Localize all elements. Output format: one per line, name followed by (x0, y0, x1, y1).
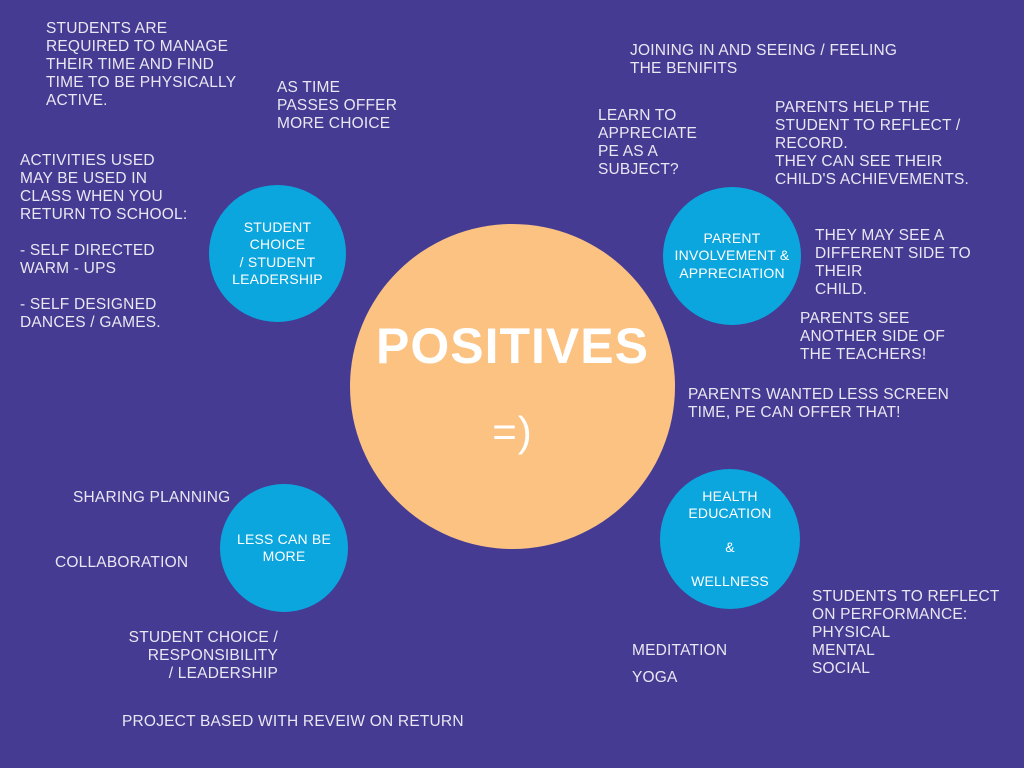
bubble-student-choice[interactable]: STUDENT CHOICE / STUDENT LEADERSHIP (209, 185, 346, 322)
bubble-health-education[interactable]: HEALTH EDUCATION & WELLNESS (660, 469, 800, 609)
bubble-less-can-be-more-label: LESS CAN BE MORE (227, 531, 341, 565)
note-parents-help-reflect: PARENTS HELP THE STUDENT TO REFLECT / RE… (775, 99, 1020, 189)
note-less-screen-time: PARENTS WANTED LESS SCREEN TIME, PE CAN … (688, 386, 1008, 422)
note-another-side-teachers: PARENTS SEE ANOTHER SIDE OF THE TEACHERS… (800, 310, 1000, 364)
note-student-responsibility: STUDENT CHOICE / RESPONSIBILITY / LEADER… (18, 629, 278, 683)
core-title: POSITIVES (376, 321, 649, 371)
note-meditation: MEDITATION (632, 642, 832, 660)
core-smiley-icon: =) (492, 411, 533, 453)
note-yoga: YOGA (632, 669, 832, 687)
note-different-side-child: THEY MAY SEE A DIFFERENT SIDE TO THEIR C… (815, 227, 1020, 299)
note-project-based: PROJECT BASED WITH REVEIW ON RETURN (122, 713, 522, 731)
bubble-core-positives[interactable]: POSITIVES =) (350, 224, 675, 549)
bubble-parent-involvement[interactable]: PARENT INVOLVEMENT & APPRECIATION (663, 187, 801, 325)
note-activities-used: ACTIVITIES USED MAY BE USED IN CLASS WHE… (20, 152, 220, 332)
bubble-less-can-be-more[interactable]: LESS CAN BE MORE (220, 484, 348, 612)
note-as-time-passes: AS TIME PASSES OFFER MORE CHOICE (277, 79, 427, 133)
note-joining-in: JOINING IN AND SEEING / FEELING THE BENI… (630, 42, 930, 78)
note-students-manage-time: STUDENTS ARE REQUIRED TO MANAGE THEIR TI… (46, 20, 296, 110)
mind-map-canvas: STUDENTS ARE REQUIRED TO MANAGE THEIR TI… (0, 0, 1024, 768)
bubble-parent-involvement-label: PARENT INVOLVEMENT & APPRECIATION (665, 230, 800, 281)
bubble-health-education-label: HEALTH EDUCATION & WELLNESS (678, 488, 781, 590)
bubble-student-choice-label: STUDENT CHOICE / STUDENT LEADERSHIP (209, 219, 346, 287)
note-students-reflect: STUDENTS TO REFLECT ON PERFORMANCE: PHYS… (812, 588, 1024, 678)
note-learn-to-appreciate: LEARN TO APPRECIATE PE AS A SUBJECT? (598, 107, 748, 179)
